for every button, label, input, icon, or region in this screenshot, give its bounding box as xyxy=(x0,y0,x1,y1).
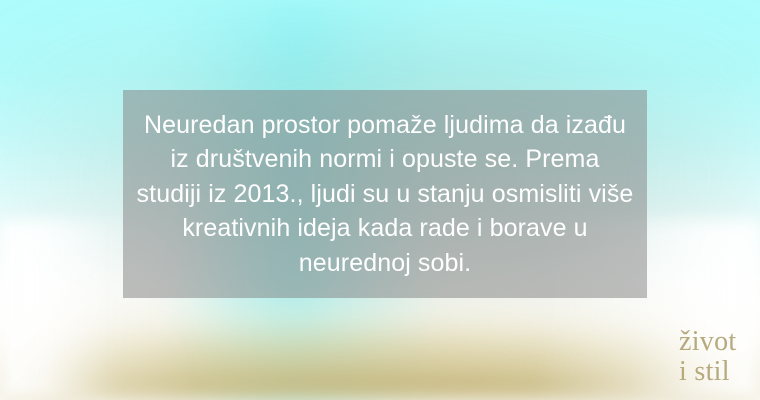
quote-overlay-panel: Neuredan prostor pomaže ljudima da izađu… xyxy=(123,90,647,298)
quote-text: Neuredan prostor pomaže ljudima da izađu… xyxy=(123,108,647,281)
logo-line-i-stil: i stil xyxy=(679,358,753,386)
zivot-i-stil-logo: život i stil xyxy=(679,328,753,386)
quote-card: Neuredan prostor pomaže ljudima da izađu… xyxy=(0,0,760,400)
logo-line-zivot: život xyxy=(679,328,753,356)
